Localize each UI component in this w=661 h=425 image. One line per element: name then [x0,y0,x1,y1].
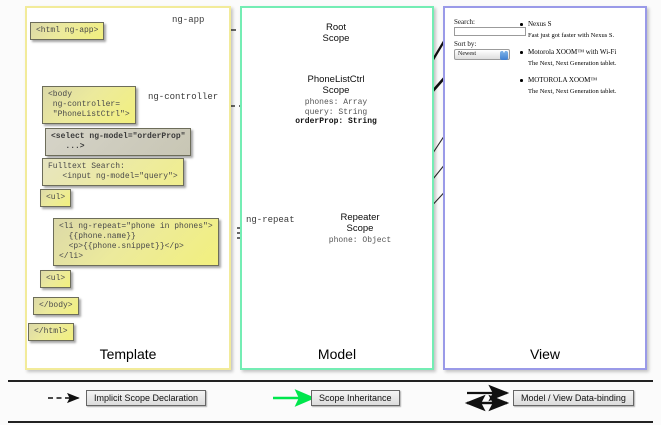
phone-name: MOTOROLA XOOM™ [519,76,639,84]
bullet-icon [520,79,523,82]
phone-snippet: The Next, Next Generation tablet. [519,88,639,95]
sort-by-value: Newest [458,51,476,57]
code-html-open-tag: <html ng-app> [30,22,104,40]
phone-name: Motorola XOOM™ with Wi-Fi [519,48,639,56]
template-panel: Template [25,6,231,370]
list-item[interactable]: Nexus S Fast just got faster with Nexus … [519,20,639,39]
view-panel: Search: Sort by: Newest ▾ Nexus S Fast j… [443,6,647,370]
phone-snippet: Fast just got faster with Nexus S. [519,32,639,39]
code-ul-close-tag: <ul> [40,270,71,288]
sort-by-select[interactable]: Newest ▾ [454,49,510,60]
template-panel-label: Template [27,346,229,362]
view-panel-label: View [445,346,645,362]
code-body-open-tag: <body ng-controller= "PhoneListCtrl"> [42,86,136,124]
legend-scope-inheritance: Scope Inheritance [311,390,400,406]
code-fulltext-search: Fulltext Search: <input ng-model="query"… [42,158,184,186]
phone-snippet: The Next, Next Generation tablet. [519,60,639,67]
list-item[interactable]: Motorola XOOM™ with Wi-Fi The Next, Next… [519,48,639,67]
ng-controller-label: ng-controller [148,92,218,102]
code-html-close-tag: </html> [28,323,74,341]
legend-rule-bottom [8,421,653,423]
code-ul-open-tag: <ul> [40,189,71,207]
model-panel-label: Model [242,346,432,362]
ng-app-label: ng-app [172,15,204,25]
legend-rule-top [8,380,653,382]
ng-repeat-label: ng-repeat [246,215,295,225]
phone-name: Nexus S [519,20,639,28]
code-li-repeat-tag: <li ng-repeat="phone in phones"> {{phone… [53,218,219,266]
bullet-icon [520,23,523,26]
code-select-tag: <select ng-model="orderProp" ...> [45,128,191,156]
chevron-updown-icon: ▾ [500,51,508,60]
legend-data-binding: Model / View Data-binding [513,390,634,406]
legend-implicit-scope-declaration: Implicit Scope Declaration [86,390,206,406]
search-input[interactable] [454,27,526,36]
diagram-canvas: Template <html ng-app> <body ng-controll… [0,0,661,425]
list-item[interactable]: MOTOROLA XOOM™ The Next, Next Generation… [519,76,639,95]
legend: Implicit Scope Declaration Scope Inherit… [0,378,661,425]
model-panel: Model [240,6,434,370]
phone-list: Nexus S Fast just got faster with Nexus … [519,20,639,104]
code-body-close-tag: </body> [33,297,79,315]
bullet-icon [520,51,523,54]
